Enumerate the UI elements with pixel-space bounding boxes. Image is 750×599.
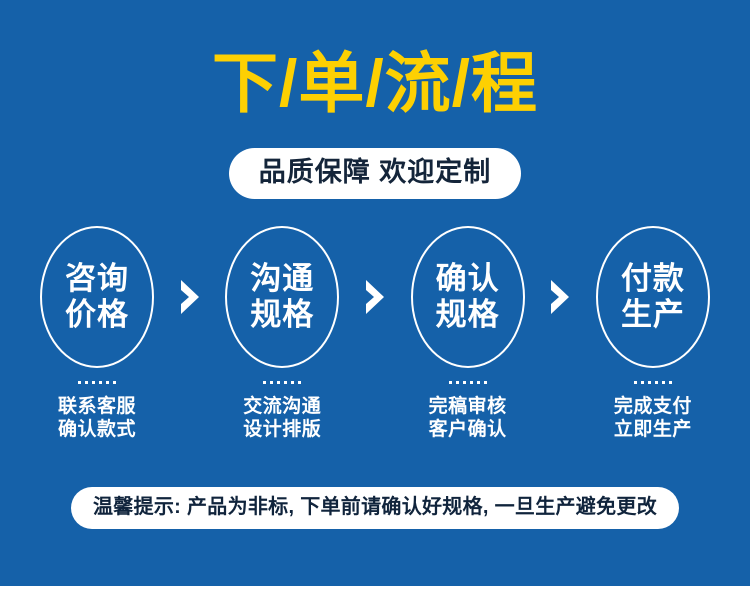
dot [113,381,116,384]
subtitle-wrap: 品质保障 欢迎定制 [0,148,750,199]
dot [106,381,109,384]
chevron-right-icon [360,226,390,368]
dots-divider-4 [634,381,672,384]
step-caption-4: 完成支付 立即生产 [614,395,692,441]
step-circle-line-1b: 价格 [65,297,129,333]
dot [655,381,658,384]
step-circle-line-4b: 生产 [621,297,685,333]
step-circle-line-1a: 咨询 [65,261,129,297]
dot [634,381,637,384]
process-step-1: 咨询 价格 联系客服 确认款式 [22,226,172,441]
dot [648,381,651,384]
step-caption-line-3a: 完稿审核 [429,395,507,418]
dot [263,381,266,384]
dot [298,381,301,384]
dot [456,381,459,384]
bottom-strip [0,586,750,599]
process-step-3: 确认 规格 完稿审核 客户确认 [393,226,543,441]
step-circle-line-4a: 付款 [621,261,685,297]
step-circle-line-3a: 确认 [436,261,500,297]
dots-divider-2 [263,381,301,384]
chevron-right-icon [545,226,575,368]
step-circle-3: 确认 规格 [411,226,525,368]
dot [85,381,88,384]
dot [641,381,644,384]
dot [99,381,102,384]
chevron-right-icon [175,226,205,368]
notice-wrap: 温馨提示: 产品为非标, 下单前请确认好规格, 一旦生产避免更改 [0,487,750,529]
step-caption-line-2a: 交流沟通 [243,395,321,418]
dot [291,381,294,384]
step-caption-2: 交流沟通 设计排版 [243,395,321,441]
step-caption-line-1b: 确认款式 [58,418,136,441]
step-caption-1: 联系客服 确认款式 [58,395,136,441]
dot [78,381,81,384]
process-step-2: 沟通 规格 交流沟通 设计排版 [207,226,357,441]
order-process-poster: 下/单/流/程 品质保障 欢迎定制 咨询 价格 联系客服 确认款式 [0,0,750,586]
step-circle-line-2b: 规格 [250,297,314,333]
dot [277,381,280,384]
step-circle-4: 付款 生产 [596,226,710,368]
notice-banner: 温馨提示: 产品为非标, 下单前请确认好规格, 一旦生产避免更改 [71,487,679,529]
page-title: 下/单/流/程 [0,46,750,120]
dots-divider-3 [449,381,487,384]
dot [470,381,473,384]
step-caption-line-4b: 立即生产 [614,418,692,441]
process-step-4: 付款 生产 完成支付 立即生产 [578,226,728,441]
dot [669,381,672,384]
step-caption-3: 完稿审核 客户确认 [429,395,507,441]
dot [92,381,95,384]
dot [270,381,273,384]
step-circle-1: 咨询 价格 [40,226,154,368]
step-circle-line-2a: 沟通 [250,261,314,297]
step-caption-line-4a: 完成支付 [614,395,692,418]
step-caption-line-3b: 客户确认 [429,418,507,441]
title-block: 下/单/流/程 [0,46,750,120]
dot [477,381,480,384]
step-caption-line-1a: 联系客服 [58,395,136,418]
process-steps: 咨询 价格 联系客服 确认款式 沟 [22,226,728,441]
step-circle-2: 沟通 规格 [225,226,339,368]
subtitle-badge: 品质保障 欢迎定制 [229,148,522,199]
dot [463,381,466,384]
dot [662,381,665,384]
step-caption-line-2b: 设计排版 [243,418,321,441]
step-circle-line-3b: 规格 [436,297,500,333]
dot [484,381,487,384]
dot [449,381,452,384]
dot [284,381,287,384]
dots-divider-1 [78,381,116,384]
